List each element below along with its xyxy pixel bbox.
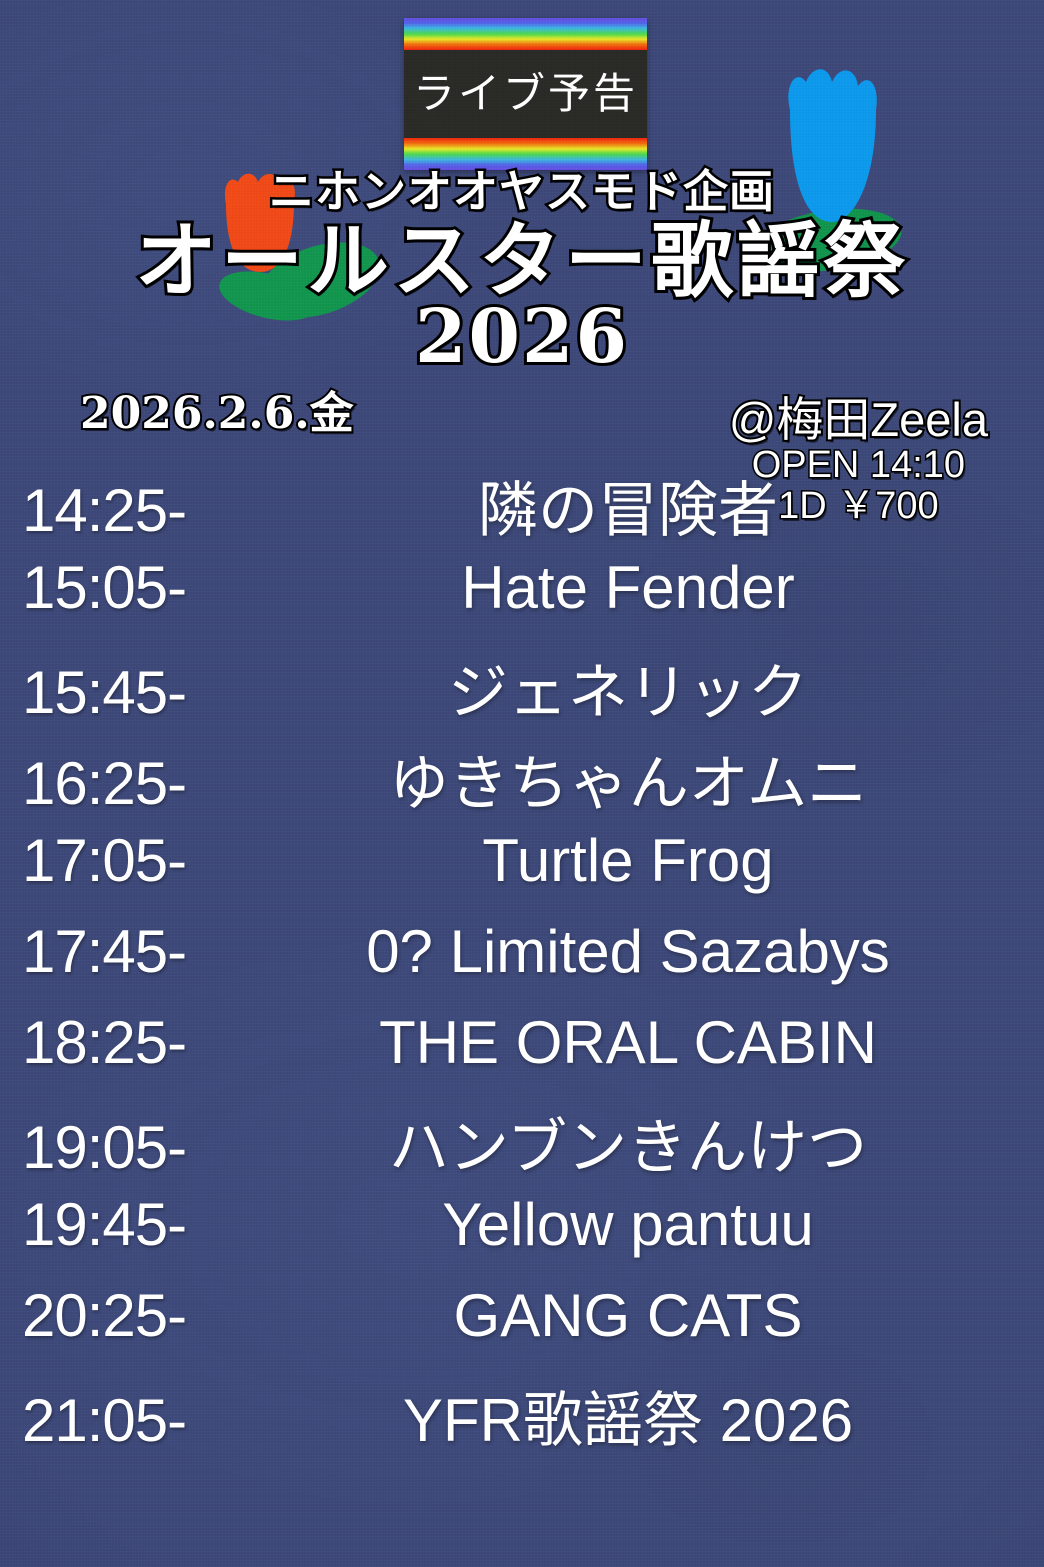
row-time: 14:25- [0, 476, 260, 545]
row-act: 0? Limited Sazabys [260, 917, 1044, 986]
table-row: 17:45- 0? Limited Sazabys [0, 917, 1044, 1008]
venue-name: @梅田Zeela [729, 396, 988, 444]
row-time: 15:05- [0, 553, 260, 622]
row-act: THE ORAL CABIN [260, 1008, 1044, 1077]
row-time: 19:05- [0, 1113, 260, 1182]
row-time: 20:25- [0, 1281, 260, 1350]
event-date: 2026.2.6.金 [80, 392, 354, 436]
row-time: 18:25- [0, 1008, 260, 1077]
table-row: 16:25- ゆきちゃんオムニ [0, 735, 1044, 826]
rainbow-strip-top [404, 18, 647, 50]
page-title: オールスター歌謡祭 [0, 217, 1044, 306]
row-act: ジェネリック [260, 644, 1044, 731]
row-time: 15:45- [0, 658, 260, 727]
table-row: 15:45- ジェネリック [0, 644, 1044, 735]
row-act: GANG CATS [260, 1281, 1044, 1350]
table-row: 17:05- Turtle Frog [0, 826, 1044, 917]
presenter-name: ニホンオオヤスモド企画 [0, 168, 1044, 215]
row-act: Turtle Frog [260, 826, 1044, 895]
table-row: 15:05- Hate Fender [0, 553, 1044, 644]
table-row: 19:05- ハンブンきんけつ [0, 1099, 1044, 1190]
event-poster: ライブ予告 ニホンオオヤスモド企画 オールスター歌謡祭 2026 2026.2.… [0, 0, 1044, 1567]
row-act: ハンブンきんけつ [260, 1099, 1044, 1186]
row-time: 17:05- [0, 826, 260, 895]
row-time: 19:45- [0, 1190, 260, 1259]
banner-core: ライブ予告 [404, 50, 647, 138]
event-year: 2026 [0, 300, 1044, 374]
banner-label: ライブ予告 [413, 73, 638, 115]
table-row: 20:25- GANG CATS [0, 1281, 1044, 1372]
row-time: 21:05- [0, 1386, 260, 1455]
row-act: YFR歌謡祭 2026 [260, 1372, 1044, 1459]
row-act: Hate Fender [260, 553, 1044, 622]
row-time: 17:45- [0, 917, 260, 986]
live-announcement-banner: ライブ予告 [404, 18, 647, 170]
table-row: 14:25- 隣の冒険者 [0, 462, 1044, 553]
table-row: 21:05- YFR歌謡祭 2026 [0, 1372, 1044, 1463]
row-act: Yellow pantuu [260, 1190, 1044, 1259]
row-act: 隣の冒険者 [260, 462, 1044, 549]
row-act: ゆきちゃんオムニ [260, 735, 1044, 822]
row-time: 16:25- [0, 749, 260, 818]
timetable: 14:25- 隣の冒険者 15:05- Hate Fender 15:45- ジ… [0, 462, 1044, 1463]
table-row: 19:45- Yellow pantuu [0, 1190, 1044, 1281]
table-row: 18:25- THE ORAL CABIN [0, 1008, 1044, 1099]
headline-block: ニホンオオヤスモド企画 オールスター歌謡祭 2026 [0, 168, 1044, 374]
